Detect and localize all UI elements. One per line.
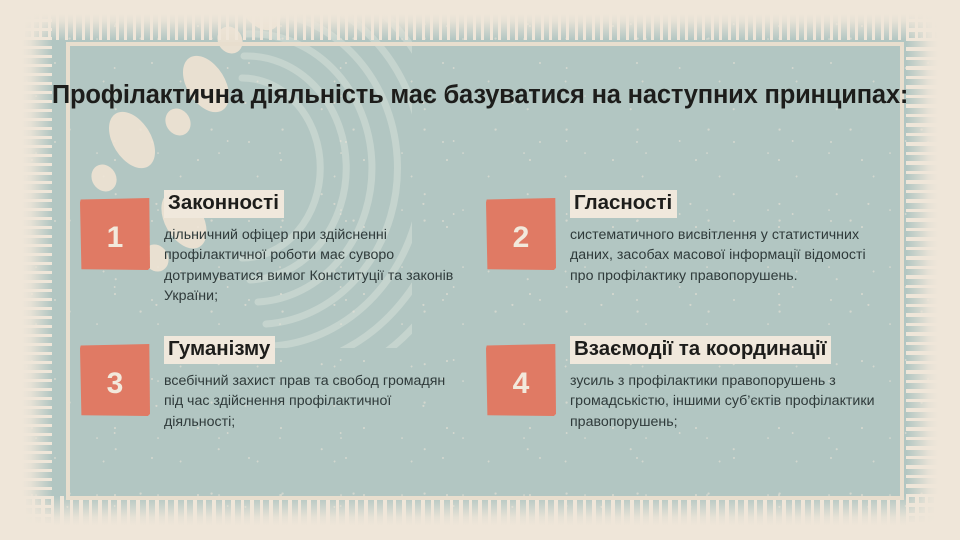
principle-body-2: систематичного висвітлення у статистични… bbox=[570, 225, 870, 286]
principle-number-badge-4: 4 bbox=[486, 344, 556, 416]
principle-text-3: Гуманізму всебічний захист прав та свобо… bbox=[150, 336, 460, 432]
panel-edge-top bbox=[22, 14, 938, 40]
principle-heading-1: Законності bbox=[164, 190, 284, 218]
principle-number-1: 1 bbox=[107, 223, 124, 253]
principle-number-badge-3: 3 bbox=[80, 344, 150, 416]
principle-number-3: 3 bbox=[107, 369, 124, 399]
principle-text-1: Законності дільничний офіцер при здійсне… bbox=[150, 190, 460, 307]
principle-text-4: Взаємодії та координації зусиль з профіл… bbox=[556, 336, 896, 432]
panel-edge-bottom bbox=[22, 496, 938, 526]
slide-canvas: Профілактична діяльність має базуватися … bbox=[0, 0, 960, 540]
principle-item-4: 4 Взаємодії та координації зусиль з проф… bbox=[486, 336, 896, 432]
principle-body-3: всебічний захист прав та свобод громадян… bbox=[164, 371, 460, 432]
principle-number-4: 4 bbox=[513, 369, 530, 399]
principle-item-3: 3 Гуманізму всебічний захист прав та сво… bbox=[80, 336, 460, 432]
page-title: Профілактична діяльність має базуватися … bbox=[0, 79, 960, 113]
principle-body-1: дільничний офіцер при здійсненні профіла… bbox=[164, 225, 460, 307]
principle-heading-4: Взаємодії та координації bbox=[570, 336, 831, 364]
principles-list: 1 Законності дільничний офіцер при здійс… bbox=[0, 190, 960, 490]
principle-item-1: 1 Законності дільничний офіцер при здійс… bbox=[80, 190, 460, 307]
principle-number-badge-2: 2 bbox=[486, 198, 556, 270]
principle-text-2: Гласності систематичного висвітлення у с… bbox=[556, 190, 886, 286]
principle-number-2: 2 bbox=[513, 223, 530, 253]
principle-heading-3: Гуманізму bbox=[164, 336, 275, 364]
principle-number-badge-1: 1 bbox=[80, 198, 150, 270]
principle-heading-2: Гласності bbox=[570, 190, 677, 218]
principle-item-2: 2 Гласності систематичного висвітлення у… bbox=[486, 190, 886, 286]
principle-body-4: зусиль з профілактики правопорушень з гр… bbox=[570, 371, 896, 432]
